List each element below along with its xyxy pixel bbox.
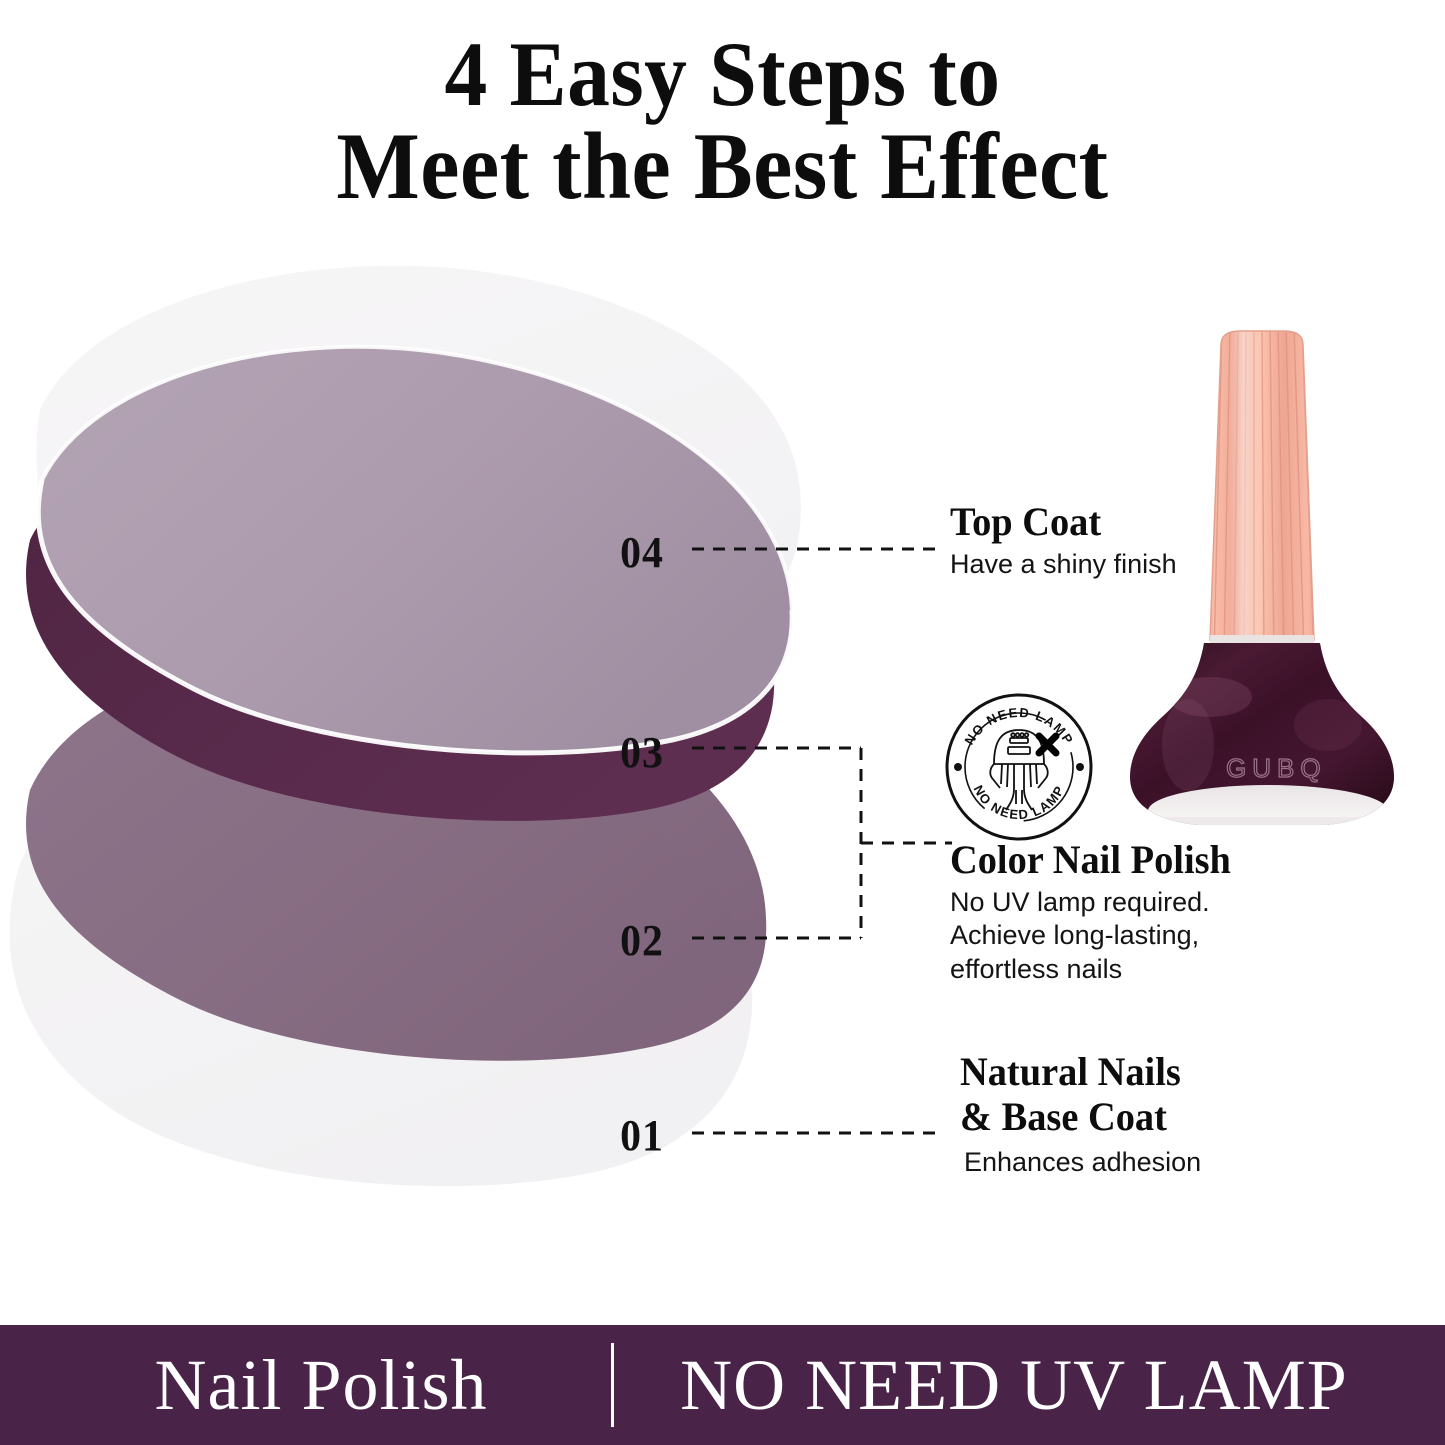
title-line-2: Meet the Best Effect <box>51 118 1395 215</box>
no-need-lamp-badge: NO NEED LAMP NO NEED LAMP <box>944 692 1094 842</box>
step-title-natural-nails-line2: & Base Coat <box>960 1095 1192 1140</box>
footer-right-text: NO NEED UV LAMP <box>680 1345 1348 1425</box>
step-number-04: 04 <box>620 527 664 578</box>
infographic-page: 4 Easy Steps to Meet the Best Effect <box>0 0 1445 1445</box>
step-subtitle-color-polish-line3: effortless nails <box>950 953 1243 986</box>
footer-banner: Nail Polish NO NEED UV LAMP <box>0 1325 1445 1445</box>
uv-lamp-icon <box>990 730 1047 810</box>
nail-polish-bottle: GUBQ <box>1118 325 1418 845</box>
bottle-body: GUBQ <box>1118 643 1418 837</box>
step-subtitle-color-polish-line1: No UV lamp required. <box>950 886 1243 919</box>
nail-layer-stack <box>0 230 860 1230</box>
badge-dot-left <box>954 763 962 771</box>
title-line-1: 4 Easy Steps to <box>51 28 1395 122</box>
step-subtitle-natural-nails: Enhances adhesion <box>964 1146 1201 1179</box>
step-subtitle-top-coat: Have a shiny finish <box>950 548 1177 581</box>
step-subtitle-color-polish-line2: Achieve long-lasting, <box>950 919 1243 952</box>
svg-text:NO NEED LAMP: NO NEED LAMP <box>971 783 1068 823</box>
badge-text-top: NO NEED LAMP <box>961 705 1076 748</box>
page-title: 4 Easy Steps to Meet the Best Effect <box>0 28 1445 215</box>
step-title-top-coat: Top Coat <box>950 500 1168 545</box>
step-number-03: 03 <box>620 727 664 778</box>
step-title-color-polish: Color Nail Polish <box>950 838 1231 883</box>
step-info-natural-nails: Natural Nails & Base Coat Enhances adhes… <box>960 1050 1201 1179</box>
step-number-01: 01 <box>620 1110 664 1161</box>
badge-text-bottom: NO NEED LAMP <box>971 783 1068 823</box>
step-info-top-coat: Top Coat Have a shiny finish <box>950 500 1177 581</box>
step-title-natural-nails-line1: Natural Nails <box>960 1050 1192 1095</box>
step-number-02: 02 <box>620 915 664 966</box>
bottle-brand-emboss: GUBQ <box>1226 753 1327 783</box>
svg-text:NO NEED LAMP: NO NEED LAMP <box>961 705 1076 748</box>
step-info-color-polish: Color Nail Polish No UV lamp required. A… <box>950 838 1243 986</box>
footer-left-text: Nail Polish <box>154 1345 487 1425</box>
badge-dot-right <box>1076 763 1084 771</box>
